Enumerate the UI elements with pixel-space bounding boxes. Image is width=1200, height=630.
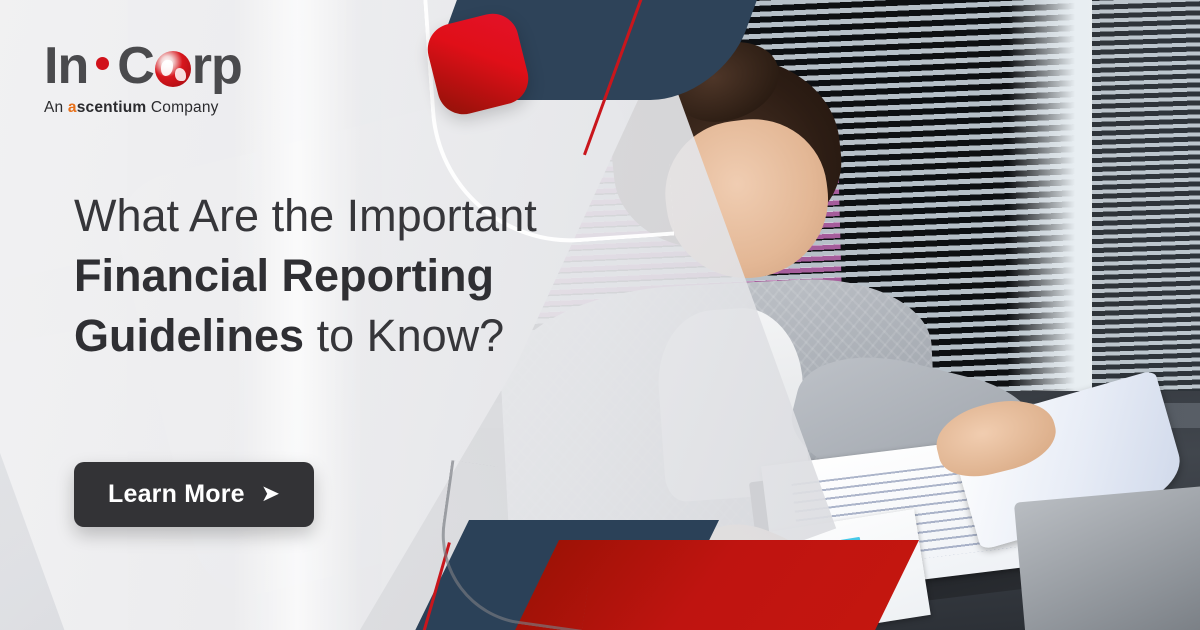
tagline-suffix: Company: [146, 99, 218, 116]
tagline-brand-name: scentium: [77, 99, 147, 116]
laptop: [1014, 480, 1200, 630]
logo-tagline: An ascentium Company: [44, 99, 242, 117]
headline-line-2: to Know?: [304, 310, 504, 361]
learn-more-button[interactable]: Learn More ➤: [74, 462, 314, 527]
window-blinds-right: [1092, 0, 1200, 428]
logo-text-rp: rp: [192, 40, 242, 92]
brand-logo[interactable]: In C rp An ascentium Company: [44, 40, 242, 117]
logo-wordmark: In C rp: [44, 40, 242, 92]
headline-line-1: What Are the Important: [74, 190, 537, 241]
arrow-right-icon: ➤: [261, 482, 280, 505]
tagline-prefix: An: [44, 99, 68, 116]
globe-icon: [155, 51, 191, 87]
logo-text-c: C: [117, 40, 154, 92]
marketing-banner: In C rp An ascentium Company What Are th…: [0, 0, 1200, 630]
learn-more-label: Learn More: [108, 480, 245, 509]
logo-text-in: In: [44, 40, 88, 92]
tagline-brand-accent: a: [68, 99, 77, 116]
dot-separator-icon: [96, 57, 109, 70]
page-title: What Are the Important Financial Reporti…: [74, 186, 614, 366]
